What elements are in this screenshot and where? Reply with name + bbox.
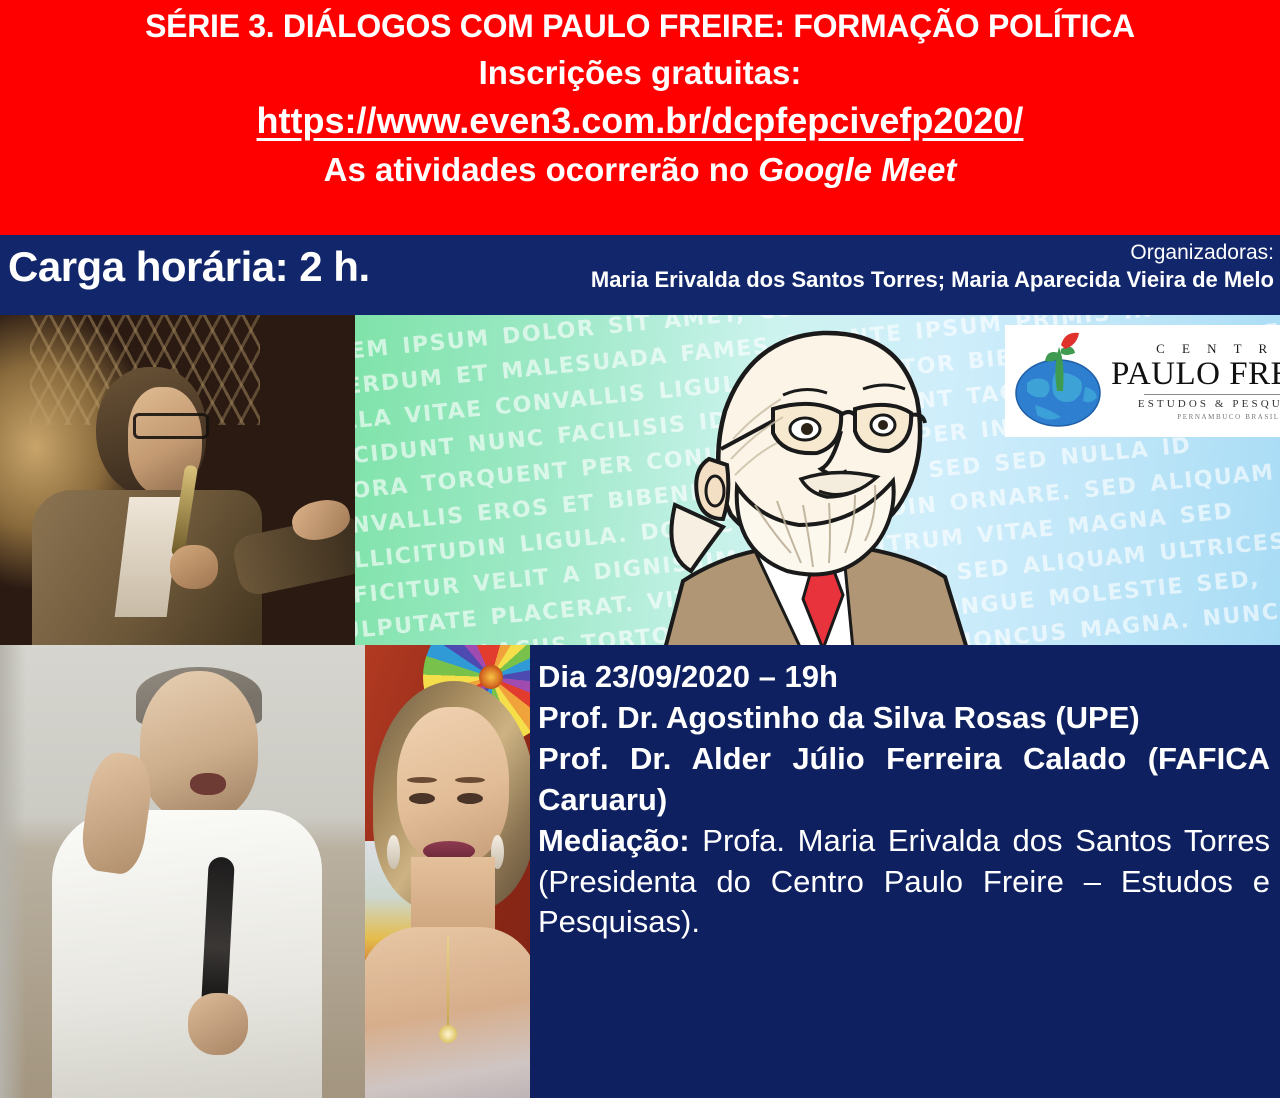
photo1-hand xyxy=(170,545,218,589)
logo-name: PAULO FREIRE xyxy=(1111,357,1280,392)
globe-with-flower-icon xyxy=(1011,331,1107,431)
logo-centro-label: C E N T R O xyxy=(1156,341,1280,357)
registration-url-link[interactable]: https://www.even3.com.br/dcpfepcivefp202… xyxy=(257,99,1024,142)
photo-mediator-woman xyxy=(365,645,530,1098)
photo3-necklace-chain xyxy=(447,937,449,1027)
photo3-earring-left xyxy=(387,835,400,869)
photo1-eyeglasses xyxy=(133,413,209,439)
logo-divider xyxy=(1144,394,1280,395)
organizers-block: Organizadoras: Maria Erivalda dos Santos… xyxy=(591,241,1274,294)
subheader-banner: Carga horária: 2 h. Organizadoras: Maria… xyxy=(0,235,1280,315)
photo3-eyebrow-left xyxy=(407,777,437,783)
paulo-freire-illustration-panel: LOREM IPSUM DOLOR SIT AMET, CONSECTETUR … xyxy=(355,315,1280,645)
speaker-two-text: Prof. Dr. Alder Júlio Ferreira Calado (F… xyxy=(538,741,1270,817)
event-details-panel: Dia 23/09/2020 – 19h Prof. Dr. Agostinho… xyxy=(530,645,1280,1098)
event-poster: SÉRIE 3. DIÁLOGOS COM PAULO FREIRE: FORM… xyxy=(0,0,1280,1098)
mediation: Mediação: Profa. Maria Erivalda dos Sant… xyxy=(538,821,1270,944)
photo3-eye-left xyxy=(409,793,435,804)
logo-location: PERNAMBUCO BRASIL xyxy=(1177,413,1279,421)
event-date-time: Dia 23/09/2020 – 19h xyxy=(538,657,1270,698)
logo-name-freire: FREIRE xyxy=(1229,356,1280,392)
platform-note: As atividades ocorrerão no Google Meet xyxy=(324,150,957,190)
photo-speaker-with-microphone xyxy=(0,315,355,645)
photo3-necklace-pendant xyxy=(439,1025,457,1043)
mediation-label: Mediação: xyxy=(538,823,690,858)
photo3-eye-right xyxy=(457,793,483,804)
speaker-one: Prof. Dr. Agostinho da Silva Rosas (UPE) xyxy=(538,698,1270,739)
organizers-label: Organizadoras: xyxy=(591,241,1274,264)
photo-elderly-speaker xyxy=(0,645,365,1098)
speaker-one-text: Prof. Dr. Agostinho da Silva Rosas (UPE) xyxy=(538,700,1140,735)
platform-prefix: As atividades ocorrerão no xyxy=(324,151,759,188)
photo2-holding-hand xyxy=(188,993,248,1055)
logo-text-block: C E N T R O PAULO FREIRE ESTUDOS & PESQU… xyxy=(1111,341,1280,422)
media-grid: LOREM IPSUM DOLOR SIT AMET, CONSECTETUR … xyxy=(0,315,1280,1098)
speaker-two: Prof. Dr. Alder Júlio Ferreira Calado (F… xyxy=(538,739,1270,821)
photo2-mouth xyxy=(190,773,226,795)
logo-name-paulo: PAULO xyxy=(1111,356,1220,392)
photo3-neck xyxy=(411,857,495,937)
photo3-eyebrow-right xyxy=(455,777,485,783)
organizers-names: Maria Erivalda dos Santos Torres; Maria … xyxy=(591,266,1274,294)
photo2-face xyxy=(140,671,258,821)
paulo-freire-portrait-icon xyxy=(605,319,1035,645)
page-title: SÉRIE 3. DIÁLOGOS COM PAULO FREIRE: FORM… xyxy=(145,8,1135,45)
centro-paulo-freire-logo: C E N T R O PAULO FREIRE ESTUDOS & PESQU… xyxy=(1005,325,1280,437)
platform-brand: Google Meet xyxy=(758,151,956,188)
registration-label: Inscrições gratuitas: xyxy=(479,52,802,93)
workload-text: Carga horária: 2 h. xyxy=(8,243,370,291)
header-banner: SÉRIE 3. DIÁLOGOS COM PAULO FREIRE: FORM… xyxy=(0,0,1280,235)
logo-subtitle: ESTUDOS & PESQUISAS xyxy=(1138,398,1280,410)
